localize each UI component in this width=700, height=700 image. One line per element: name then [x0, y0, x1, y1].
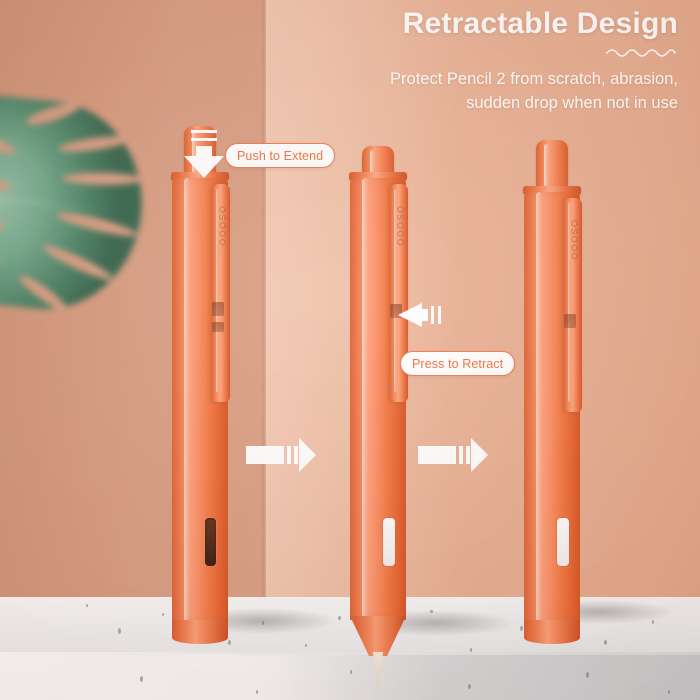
terrazzo-speck	[305, 644, 307, 647]
pen-3-charging-cutout	[557, 518, 569, 566]
terrazzo-speck	[668, 690, 670, 694]
plunger-highlight	[544, 144, 549, 190]
pen-1-retracted[interactable]: OSOOO	[172, 126, 228, 636]
pen-2-extended[interactable]: OSOOO	[350, 146, 406, 646]
subtitle-line-2: sudden drop when not in use	[466, 92, 678, 115]
motion-line	[431, 306, 434, 324]
motion-line	[191, 130, 217, 133]
pen-1-side-notch	[212, 322, 224, 332]
terrazzo-speck	[338, 616, 341, 620]
flow-arrow-2-3	[418, 438, 488, 472]
terrazzo-speck	[256, 690, 258, 694]
pen-1-closed-tip	[172, 620, 228, 644]
pen-3-pocket-clip[interactable]: OSOOO	[564, 198, 582, 412]
plunger-highlight	[370, 150, 375, 174]
pen-1-pocket-clip[interactable]: OSOOO	[212, 184, 230, 402]
terrazzo-speck	[350, 670, 352, 674]
terrazzo-speck	[586, 672, 589, 678]
arrow-head-left	[398, 303, 422, 327]
squiggle-underline-icon	[606, 46, 676, 58]
motion-line	[438, 306, 441, 324]
pen-3-side-notch	[564, 314, 576, 328]
arrow-shaft	[246, 446, 284, 464]
terrazzo-speck	[520, 626, 523, 631]
terrazzo-speck	[468, 684, 471, 689]
podium-front-face	[0, 655, 700, 700]
pen-3-closed-tip	[524, 620, 580, 644]
arrow-shaft	[418, 446, 456, 464]
arrow-shaft	[420, 309, 428, 321]
motion-line	[294, 446, 298, 464]
monstera-leaf-main	[0, 93, 152, 319]
arrow-head-right	[299, 438, 316, 472]
callout-press-label: Press to Retract	[412, 357, 503, 371]
motion-line	[459, 446, 463, 464]
motion-line	[191, 138, 217, 141]
callout-press-to-retract[interactable]: Press to Retract	[400, 351, 515, 376]
callout-push-to-extend[interactable]: Push to Extend	[225, 143, 335, 168]
terrazzo-speck	[118, 628, 121, 634]
barrel-highlight	[536, 192, 543, 624]
motion-line	[287, 446, 291, 464]
terrazzo-speck	[228, 640, 231, 645]
pen-2-brand-text: OSOOO	[395, 206, 405, 247]
page-title: Retractable Design	[403, 7, 678, 41]
press-left-arrow	[398, 302, 446, 328]
pen-1-side-notch	[212, 302, 224, 316]
pen-2-charging-cutout	[383, 518, 395, 566]
subtitle-line-1: Protect Pencil 2 from scratch, abrasion,	[390, 68, 678, 91]
arrow-head-down	[184, 156, 224, 178]
barrel-highlight	[362, 178, 369, 620]
push-down-arrow	[182, 130, 226, 178]
pen-1-brand-text: OSOOO	[217, 206, 227, 247]
callout-push-label: Push to Extend	[237, 149, 323, 163]
terrazzo-speck	[86, 604, 88, 607]
product-infographic-scene: OSOOO OSOOO	[0, 0, 700, 700]
pen-1-charging-cutout	[205, 518, 216, 566]
barrel-highlight	[184, 178, 191, 624]
wall-corner-edge	[262, 0, 267, 700]
monstera-plant	[0, 0, 158, 430]
terrazzo-speck	[652, 620, 654, 624]
pen-3-brand-text: OSOOO	[569, 220, 579, 261]
terrazzo-speck	[162, 613, 164, 616]
pen-3-retracted[interactable]: OSOOO	[524, 140, 580, 640]
pen-3-plunger-up[interactable]	[536, 140, 568, 192]
motion-line	[466, 446, 470, 464]
terrazzo-speck	[604, 640, 607, 645]
flow-arrow-1-2	[246, 438, 316, 472]
arrow-head-right	[471, 438, 488, 472]
terrazzo-speck	[470, 648, 472, 652]
terrazzo-speck	[140, 676, 143, 682]
